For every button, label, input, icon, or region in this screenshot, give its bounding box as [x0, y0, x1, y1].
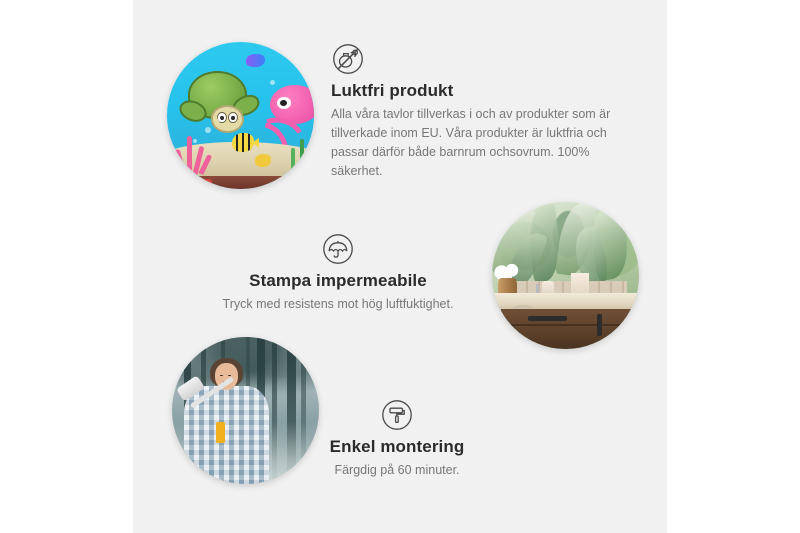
underwater-cartoon-photo	[167, 42, 314, 189]
feature-description: Tryck med resistens mot hög luftfuktighe…	[213, 295, 463, 314]
feature-waterproof: Stampa impermeabile Tryck med resistens …	[213, 232, 463, 314]
yellow-striped-fish	[232, 133, 254, 152]
feature-description: Alla våra tavlor tillverkas i och av pro…	[331, 105, 619, 181]
drawer-handle	[528, 316, 567, 321]
paint-roller-grip	[216, 422, 225, 443]
octopus-eye	[277, 97, 291, 110]
turtle-eye-right	[228, 112, 238, 123]
painter-forest-wallpaper-photo	[172, 337, 319, 484]
coral-branch	[175, 149, 187, 175]
feature-assembly: Enkel montering Färgdig på 60 minuter.	[302, 398, 492, 480]
no-odor-spray-bottle-icon	[331, 42, 365, 76]
paint-roller-icon	[380, 398, 414, 432]
person-eye-left	[220, 375, 223, 377]
feature-description: Färgdig på 60 minuter.	[302, 461, 492, 480]
underwater-scene	[167, 42, 314, 189]
door-handle	[597, 314, 602, 336]
seaweed	[291, 148, 295, 177]
foreground-strip	[167, 176, 314, 189]
bathroom-botanical-wallpaper-photo	[492, 202, 639, 349]
wooden-vanity-cabinet	[501, 309, 639, 349]
coral-branch	[187, 136, 192, 174]
feature-odorless: Luktfri produkt Alla våra tavlor tillver…	[331, 42, 619, 181]
drawer-seam	[501, 324, 639, 326]
seaweed	[300, 139, 304, 177]
painter-forest-scene	[172, 337, 319, 484]
feature-title: Luktfri produkt	[331, 81, 619, 101]
umbrella-icon	[321, 232, 355, 266]
product-feature-banner: Luktfri produkt Alla våra tavlor tillver…	[0, 0, 800, 533]
feature-title: Stampa impermeabile	[213, 271, 463, 291]
feature-title: Enkel montering	[302, 437, 492, 457]
bathroom-scene	[492, 202, 639, 349]
